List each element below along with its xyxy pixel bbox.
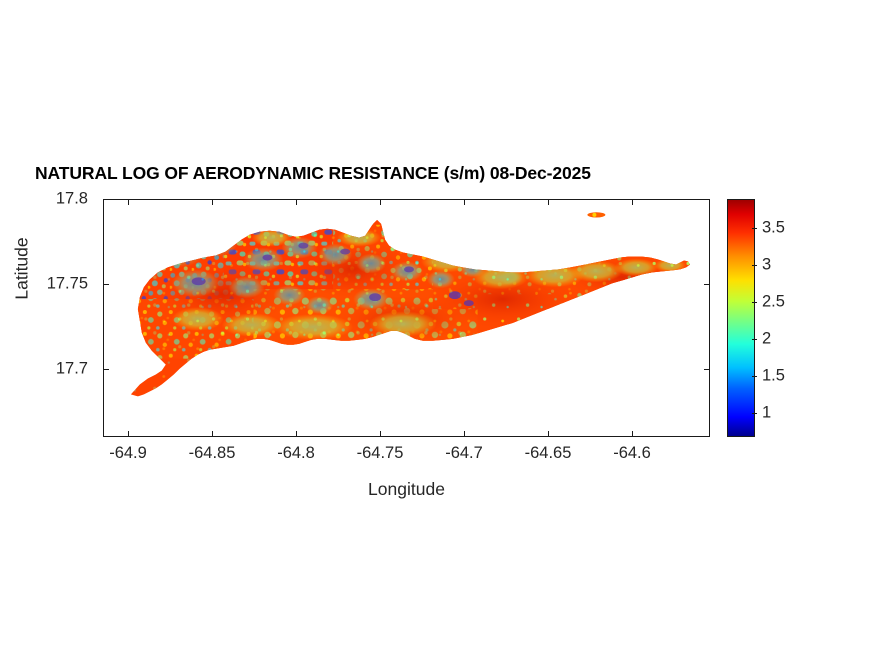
y-tick — [103, 369, 109, 370]
x-tick — [128, 431, 129, 437]
x-tick-label: -64.85 — [189, 444, 236, 463]
x-tick — [548, 199, 549, 205]
x-tick-label: -64.8 — [277, 444, 315, 463]
colorbar-tick-label: 1.5 — [762, 367, 785, 386]
x-tick-label: -64.6 — [613, 444, 651, 463]
colorbar-tick-label: 1 — [762, 404, 771, 423]
colorbar-tick — [752, 228, 757, 229]
y-axis-label: Latitude — [12, 209, 33, 329]
colorbar-tick — [752, 376, 757, 377]
x-tick — [212, 431, 213, 437]
map-axes[interactable] — [103, 199, 710, 437]
x-tick — [464, 199, 465, 205]
colorbar-tick — [752, 339, 757, 340]
x-tick — [548, 431, 549, 437]
x-tick — [632, 199, 633, 205]
x-tick-label: -64.7 — [445, 444, 483, 463]
page-title: NATURAL LOG OF AERODYNAMIC RESISTANCE (s… — [35, 163, 591, 184]
figure-canvas: NATURAL LOG OF AERODYNAMIC RESISTANCE (s… — [0, 0, 875, 656]
colorbar-tick — [752, 265, 757, 266]
colorbar-tick-label: 2.5 — [762, 293, 785, 312]
colorbar[interactable] — [727, 199, 755, 437]
raster-map-image — [104, 200, 709, 436]
x-tick — [380, 431, 381, 437]
x-axis-label: Longitude — [103, 479, 710, 500]
colorbar-tick — [752, 302, 757, 303]
x-tick — [464, 431, 465, 437]
x-tick — [380, 199, 381, 205]
y-tick — [103, 284, 109, 285]
colorbar-tick-label: 3 — [762, 256, 771, 275]
x-tick-label: -64.65 — [525, 444, 572, 463]
y-tick-label: 17.7 — [56, 360, 88, 379]
y-tick-label: 17.75 — [47, 275, 88, 294]
colorbar-tick — [752, 413, 757, 414]
x-tick — [632, 431, 633, 437]
x-tick — [212, 199, 213, 205]
colorbar-tick-label: 3.5 — [762, 219, 785, 238]
y-tick — [704, 199, 710, 200]
x-tick-label: -64.9 — [109, 444, 147, 463]
x-tick — [296, 199, 297, 205]
x-tick — [128, 199, 129, 205]
x-tick-label: -64.75 — [357, 444, 404, 463]
colorbar-tick-label: 2 — [762, 330, 771, 349]
x-tick — [296, 431, 297, 437]
y-tick — [704, 284, 710, 285]
y-tick-label: 17.8 — [56, 190, 88, 209]
y-tick — [704, 369, 710, 370]
y-tick — [103, 199, 109, 200]
